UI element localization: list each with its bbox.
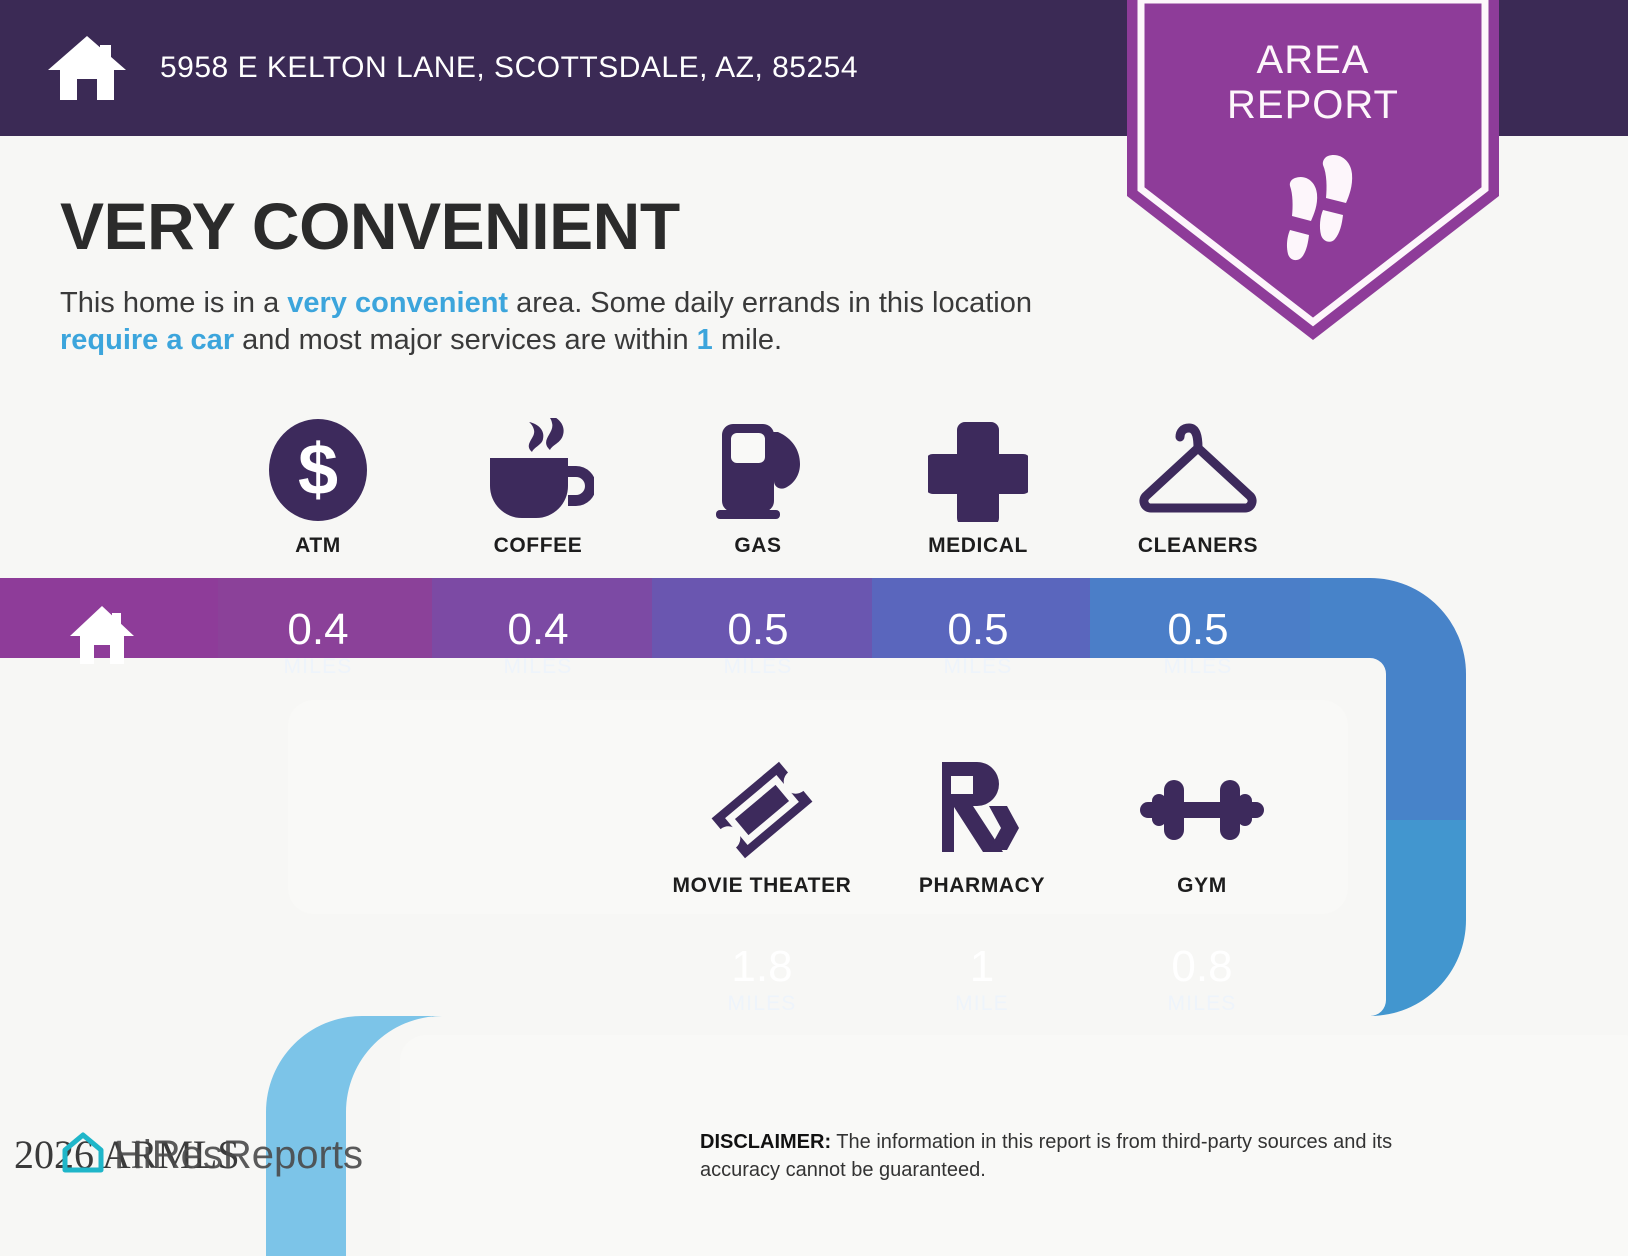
distance-row-2: 1.8 MILES 1 MILE 0.8 MILES <box>652 932 1312 1028</box>
distance-value: 0.5 <box>727 607 788 653</box>
blurb-highlight-1: very convenient <box>287 287 508 319</box>
distance-unit: MILES <box>283 655 352 679</box>
distance-value: 0.4 <box>507 607 568 653</box>
distance-row-1: 0.4 MILES 0.4 MILES 0.5 MILES 0.5 MILES … <box>208 595 1308 691</box>
service-cell-atm: $ ATM <box>208 418 428 558</box>
badge-text: AREA REPORT <box>1127 38 1499 128</box>
service-icons-row-2: MOVIE THEATER PHARMACY <box>652 758 1312 898</box>
service-cell-pharmacy: PHARMACY <box>872 758 1092 898</box>
blurb-highlight-3: 1 <box>697 324 713 356</box>
property-address: 5958 E KELTON LANE, SCOTTSDALE, AZ, 8525… <box>160 51 858 85</box>
distance-value: 0.5 <box>1167 607 1228 653</box>
blurb-text-1: This home is in a <box>60 287 287 319</box>
coffee-cup-icon <box>482 418 594 522</box>
page-title: VERY CONVENIENT <box>60 188 680 264</box>
distance-unit: MILES <box>727 992 796 1016</box>
disclaimer-label: DISCLAIMER: <box>700 1131 831 1153</box>
service-cell-cleaners: CLEANERS <box>1088 418 1308 558</box>
summary-blurb: This home is in a very convenient area. … <box>60 285 1110 359</box>
blurb-highlight-2: require a car <box>60 324 234 356</box>
service-cell-coffee: COFFEE <box>428 418 648 558</box>
distance-unit: MILES <box>1167 992 1236 1016</box>
service-label: MEDICAL <box>928 534 1028 558</box>
dumbbell-icon <box>1136 758 1268 862</box>
distance-cell-pharmacy: 1 MILE <box>872 932 1092 1028</box>
movie-ticket-icon <box>710 758 814 862</box>
disclaimer: DISCLAIMER: The information in this repo… <box>700 1128 1430 1184</box>
distance-cell-atm: 0.4 MILES <box>208 595 428 691</box>
service-icons-row-1: $ ATM COFFEE <box>208 418 1308 558</box>
service-cell-medical: MEDICAL <box>868 418 1088 558</box>
rx-icon <box>937 758 1027 862</box>
badge-line-2: REPORT <box>1127 83 1499 128</box>
area-report-page: 5958 E KELTON LANE, SCOTTSDALE, AZ, 8525… <box>0 0 1628 1256</box>
distance-unit: MILES <box>943 655 1012 679</box>
service-cell-gas: GAS <box>648 418 868 558</box>
service-cell-gym: GYM <box>1092 758 1312 898</box>
coat-hanger-icon <box>1136 418 1260 522</box>
service-label: ATM <box>295 534 341 558</box>
blurb-text-3: and most major services are within <box>234 324 697 356</box>
service-label: CLEANERS <box>1138 534 1258 558</box>
service-cell-movie-theater: MOVIE THEATER <box>652 758 872 898</box>
badge-line-1: AREA <box>1127 38 1499 83</box>
service-label: GAS <box>734 534 781 558</box>
distance-cell-coffee: 0.4 MILES <box>428 595 648 691</box>
service-label: PHARMACY <box>919 874 1045 898</box>
distance-value: 0.5 <box>947 607 1008 653</box>
distance-cell-gym: 0.8 MILES <box>1092 932 1312 1028</box>
distance-unit: MILES <box>503 655 572 679</box>
area-report-badge: AREA REPORT <box>1127 0 1499 340</box>
distance-value: 1 <box>970 944 994 990</box>
distance-value: 0.4 <box>287 607 348 653</box>
home-icon <box>44 33 130 103</box>
distance-value: 1.8 <box>731 944 792 990</box>
distance-value: 0.8 <box>1171 944 1232 990</box>
distance-cell-cleaners: 0.5 MILES <box>1088 595 1308 691</box>
distance-cell-medical: 0.5 MILES <box>868 595 1088 691</box>
distance-cell-movie-theater: 1.8 MILES <box>652 932 872 1028</box>
home-icon <box>68 604 136 666</box>
watermark-hires-label: HiResReports <box>114 1133 363 1178</box>
distance-unit: MILES <box>1163 655 1232 679</box>
service-label: MOVIE THEATER <box>673 874 852 898</box>
service-label: GYM <box>1177 874 1227 898</box>
svg-text:$: $ <box>298 430 338 510</box>
medical-cross-icon <box>928 418 1028 522</box>
distance-unit: MILE <box>955 992 1009 1016</box>
service-label: COFFEE <box>494 534 583 558</box>
distance-cell-gas: 0.5 MILES <box>648 595 868 691</box>
distance-unit: MILES <box>723 655 792 679</box>
gas-pump-icon <box>708 418 808 522</box>
dollar-coin-icon: $ <box>268 418 368 522</box>
blurb-text-4: mile. <box>713 324 782 356</box>
blurb-text-2: area. Some daily errands in this locatio… <box>508 287 1032 319</box>
watermark-hires-reports: HiResReports <box>60 1130 363 1181</box>
hires-house-icon <box>60 1130 106 1181</box>
